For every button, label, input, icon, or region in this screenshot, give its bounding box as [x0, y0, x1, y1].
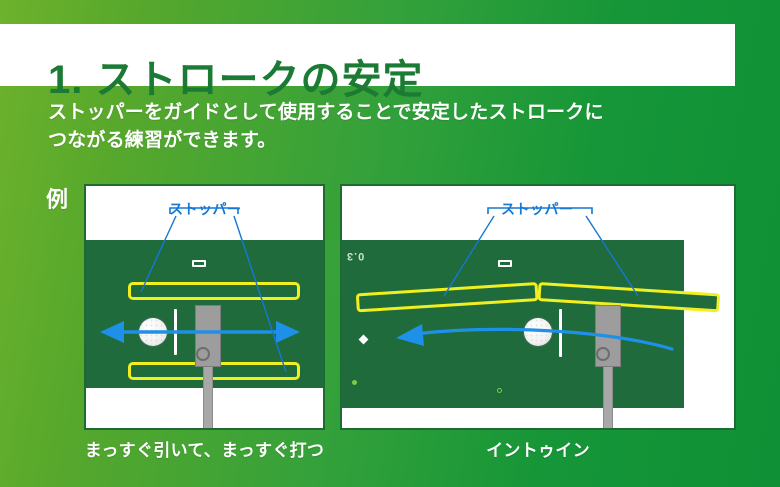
stopper-leader-lines-left	[86, 186, 325, 430]
caption-straight: まっすぐ引いて、まっすぐ打つ	[84, 436, 325, 461]
stopper-label-left: ストッパー	[169, 199, 242, 219]
lead-line-2: つながる練習ができます。	[48, 127, 738, 155]
slide-root: 1. ストロークの安定 ストッパーをガイドとして使用することで安定したストローク…	[0, 0, 780, 487]
stopper-label-right: ストッパー	[501, 199, 574, 219]
lead-line-1: ストッパーをガイドとして使用することで安定したストロークに	[48, 99, 738, 127]
example-marker: 例	[46, 182, 68, 214]
title-banner: 1. ストロークの安定	[0, 24, 735, 86]
stopper-leader-lines-right	[342, 186, 736, 430]
example-card-in-to-in: 0.3 ストッパー	[340, 184, 736, 430]
example-card-straight: ストッパー	[84, 184, 325, 430]
lead-paragraph: ストッパーをガイドとして使用することで安定したストロークに つながる練習ができま…	[48, 99, 738, 154]
caption-in-to-in: イントゥイン	[340, 436, 736, 461]
